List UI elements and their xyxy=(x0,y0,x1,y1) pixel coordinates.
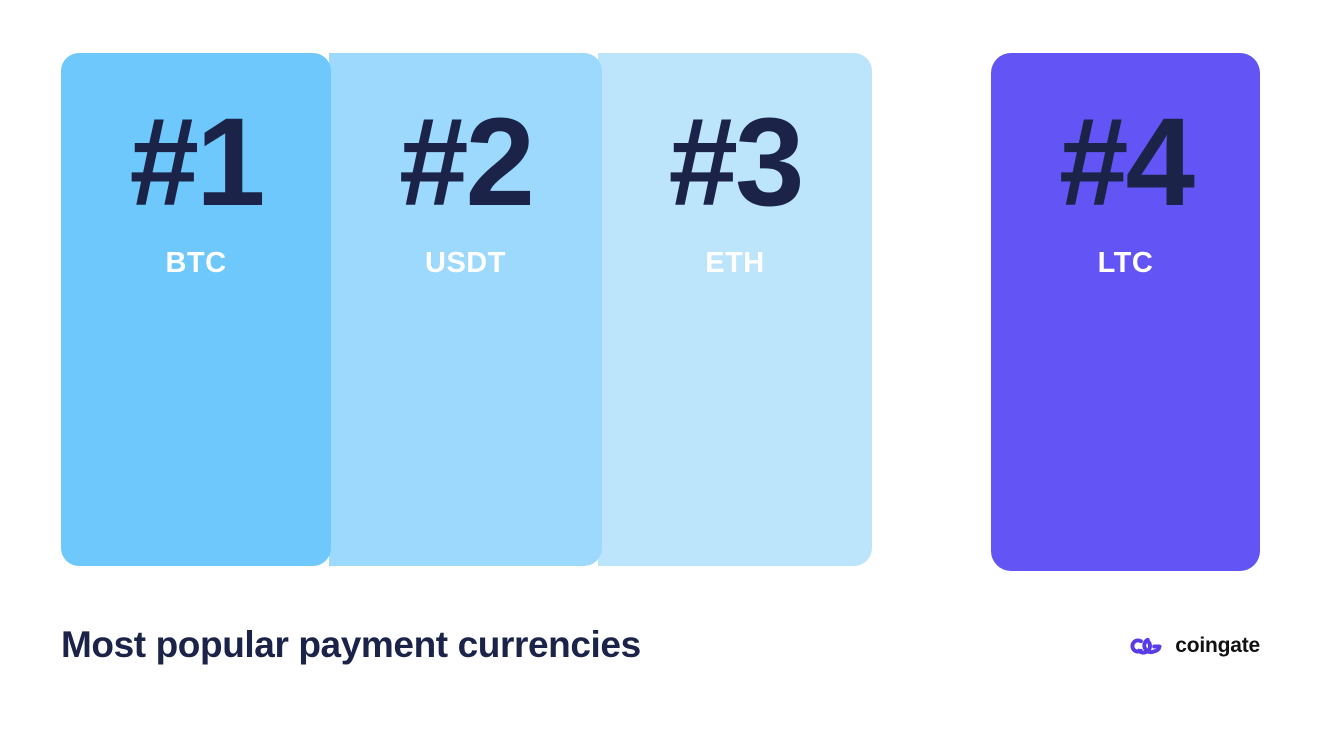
rank-card-btc[interactable]: #1 BTC xyxy=(61,53,331,566)
infographic-canvas: #1 BTC #2 USDT #3 ETH #4 LTC Most popula… xyxy=(0,0,1320,743)
ranked-cards-group: #1 BTC #2 USDT #3 ETH xyxy=(61,53,872,566)
rank-card-usdt[interactable]: #2 USDT xyxy=(329,53,602,566)
rank-number-1: #1 xyxy=(129,100,262,225)
rank-ticker-usdt: USDT xyxy=(425,247,506,280)
rank-number-3: #3 xyxy=(668,100,801,225)
page-title: Most popular payment currencies xyxy=(61,624,641,666)
brand-lockup: coingate xyxy=(1126,634,1260,658)
rank-card-eth[interactable]: #3 ETH xyxy=(598,53,872,566)
rank-card-ltc[interactable]: #4 LTC xyxy=(991,53,1260,571)
brand-wordmark: coingate xyxy=(1175,634,1260,658)
rank-ticker-ltc: LTC xyxy=(1098,247,1154,280)
rank-number-2: #2 xyxy=(399,100,532,225)
rank-ticker-eth: ETH xyxy=(705,247,765,280)
coingate-logo-icon xyxy=(1126,635,1164,657)
footer: Most popular payment currencies coingate xyxy=(0,616,1320,706)
rank-number-4: #4 xyxy=(1059,100,1192,225)
rank-ticker-btc: BTC xyxy=(165,247,226,280)
